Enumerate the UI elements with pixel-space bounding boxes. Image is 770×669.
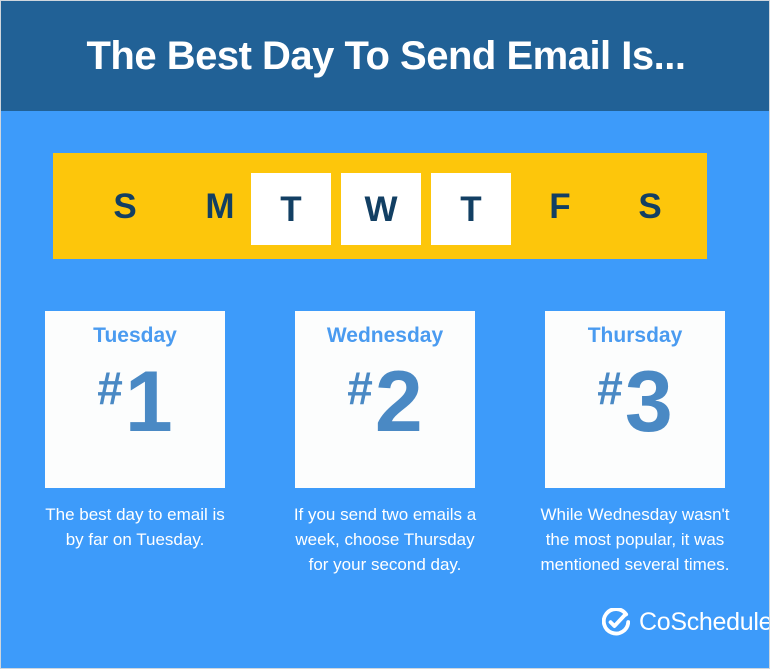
weekday-cell-sunday: S xyxy=(85,153,165,259)
coschedule-wordmark: CoSchedule xyxy=(639,610,770,635)
weekday-cell-tuesday: T xyxy=(251,173,331,245)
caption-line: If you send two emails a xyxy=(260,502,510,527)
weekday-letter: T xyxy=(460,192,481,227)
page-title: The Best Day To Send Email Is... xyxy=(87,36,686,76)
caption-wednesday: If you send two emails a week, choose Th… xyxy=(260,502,510,577)
weekday-letter: W xyxy=(364,192,397,227)
rank-card-day-label: Wednesday xyxy=(295,325,475,346)
header-band: The Best Day To Send Email Is... xyxy=(1,1,770,111)
weekday-letter: M xyxy=(205,189,234,224)
caption-line: mentioned several times. xyxy=(510,552,760,577)
rank-card-tuesday: Tuesday # 1 xyxy=(45,311,225,488)
rank-card-day-label: Thursday xyxy=(545,325,725,346)
weekday-cell-friday: F xyxy=(520,153,600,259)
rank-digit: 1 xyxy=(125,359,173,445)
weekday-cell-saturday: S xyxy=(610,153,690,259)
rank-card-day-label: Tuesday xyxy=(45,325,225,346)
weekday-cell-monday: M xyxy=(180,153,260,259)
rank-digit: 2 xyxy=(375,359,423,445)
rank-card-thursday: Thursday # 3 xyxy=(545,311,725,488)
coschedule-logo: CoSchedule xyxy=(602,608,770,636)
caption-line: week, choose Thursday xyxy=(260,527,510,552)
caption-line: by far on Tuesday. xyxy=(10,527,260,552)
weekday-cell-thursday: T xyxy=(431,173,511,245)
rank-card-number: # 3 xyxy=(545,359,725,445)
rank-card-wednesday: Wednesday # 2 xyxy=(295,311,475,488)
weekday-letter: T xyxy=(280,192,301,227)
rank-card-number: # 2 xyxy=(295,359,475,445)
check-circle-icon xyxy=(602,608,630,636)
weekday-cell-wednesday: W xyxy=(341,173,421,245)
caption-line: While Wednesday wasn't xyxy=(510,502,760,527)
caption-tuesday: The best day to email is by far on Tuesd… xyxy=(10,502,260,552)
rank-card-number: # 1 xyxy=(45,359,225,445)
weekday-letter: S xyxy=(638,189,661,224)
rank-digit: 3 xyxy=(625,359,673,445)
weekday-strip: S M T W T F S xyxy=(53,153,707,259)
weekday-letter: S xyxy=(113,189,136,224)
hash-symbol: # xyxy=(347,359,373,411)
caption-thursday: While Wednesday wasn't the most popular,… xyxy=(510,502,760,577)
infographic-canvas: The Best Day To Send Email Is... S M T W… xyxy=(0,0,770,669)
hash-symbol: # xyxy=(97,359,123,411)
caption-line: for your second day. xyxy=(260,552,510,577)
caption-line: The best day to email is xyxy=(10,502,260,527)
hash-symbol: # xyxy=(597,359,623,411)
caption-line: the most popular, it was xyxy=(510,527,760,552)
weekday-letter: F xyxy=(549,189,570,224)
